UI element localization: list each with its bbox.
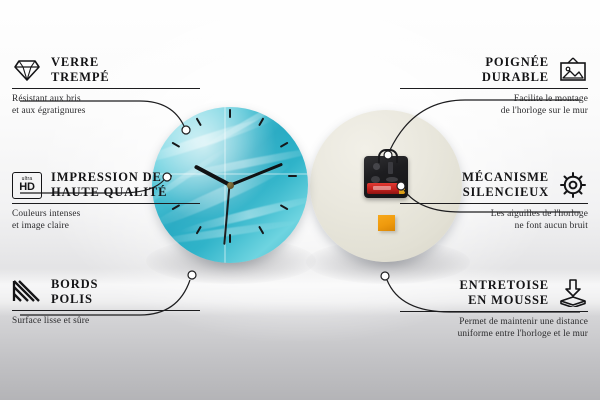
feature-header: VERRE TREMPÉ	[12, 55, 200, 85]
feature-title: VERRE TREMPÉ	[51, 55, 110, 85]
feature-description-line: Résistant aux bris	[12, 93, 200, 105]
feature-description-line: de l'horloge sur le mur	[400, 105, 588, 117]
hands-center-cap	[227, 182, 234, 189]
feature-header: POIGNÉE DURABLE	[400, 55, 588, 85]
feature-verre-trempe: VERRE TREMPÉ Résistant aux bris et aux é…	[12, 55, 200, 117]
divider	[12, 310, 200, 311]
feature-description-line: Couleurs intenses	[12, 208, 200, 220]
feature-header: ultra HD IMPRESSION DE HAUTE QUALITÉ	[12, 170, 200, 200]
divider	[12, 203, 200, 204]
feature-title: BORDS POLIS	[51, 277, 98, 307]
feature-mecanisme-silencieux: MÉCANISME SILENCIEUX Les aiguilles de l'…	[400, 170, 588, 232]
hour-marker	[288, 175, 297, 177]
feature-impression-haute-qualite: ultra HD IMPRESSION DE HAUTE QUALITÉ Cou…	[12, 170, 200, 232]
hour-marker	[229, 234, 231, 243]
feature-title: MÉCANISME SILENCIEUX	[462, 170, 549, 200]
feature-description-line: ne font aucun bruit	[400, 220, 588, 232]
hanger-loop-icon	[378, 149, 398, 163]
feature-header: ENTRETOISE EN MOUSSE	[400, 278, 588, 308]
ultra-hd-big-text: HD	[19, 182, 35, 193]
feature-title: ENTRETOISE EN MOUSSE	[459, 278, 549, 308]
feature-description-line: et aux égratignures	[12, 105, 200, 117]
feature-header: MÉCANISME SILENCIEUX	[400, 170, 588, 200]
mechanism-detail	[371, 176, 380, 183]
battery-label	[373, 186, 391, 190]
ultra-hd-icon: ultra HD	[12, 170, 42, 200]
feature-entretoise-en-mousse: ENTRETOISE EN MOUSSE Permet de maintenir…	[400, 278, 588, 340]
ultra-hd-badge: ultra HD	[12, 172, 42, 199]
feature-description-line: Permet de maintenir une distance	[400, 316, 588, 328]
wall-hanger-icon	[558, 55, 588, 85]
feature-poignee-durable: POIGNÉE DURABLE Facilite le montage de l…	[400, 55, 588, 117]
mechanism-slot	[388, 162, 393, 174]
feature-description-line: uniforme entre l'horloge et le mur	[400, 328, 588, 340]
polished-edge-icon	[12, 277, 42, 307]
feature-header: BORDS POLIS	[12, 277, 200, 307]
feature-title: IMPRESSION DE HAUTE QUALITÉ	[51, 170, 167, 200]
gear-icon	[558, 170, 588, 200]
foam-spacer-icon	[558, 278, 588, 308]
divider	[400, 203, 588, 204]
hour-marker	[229, 109, 231, 118]
diamond-icon	[12, 55, 42, 85]
feature-description-line: Surface lisse et sûre	[12, 315, 200, 327]
feature-description-line: Les aiguilles de l'horloge	[400, 208, 588, 220]
mechanism-shaft	[373, 163, 380, 170]
feature-bords-polis: BORDS POLIS Surface lisse et sûre	[12, 277, 200, 327]
divider	[12, 88, 200, 89]
feature-description-line: et image claire	[12, 220, 200, 232]
infographic-canvas: VERRE TREMPÉ Résistant aux bris et aux é…	[0, 0, 600, 400]
feature-title: POIGNÉE DURABLE	[482, 55, 549, 85]
divider	[400, 311, 588, 312]
feature-description-line: Facilite le montage	[400, 93, 588, 105]
divider	[400, 88, 588, 89]
mechanism-detail	[386, 177, 398, 182]
foam-spacer-pad	[378, 215, 395, 231]
